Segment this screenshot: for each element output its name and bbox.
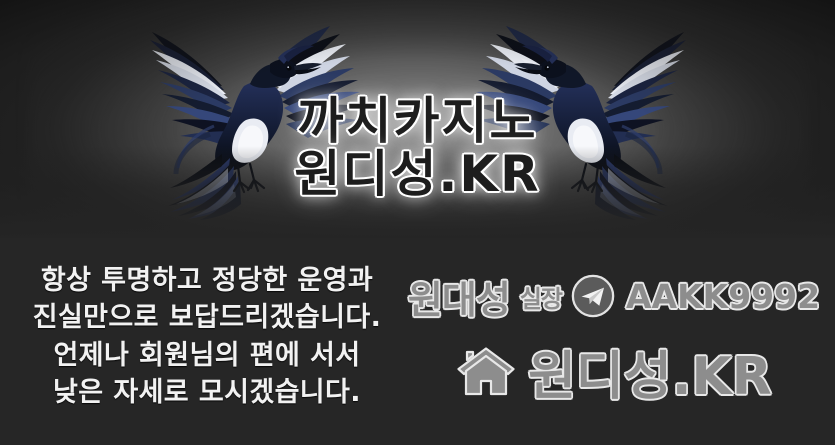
bottom-panel: 항상 투명하고 정당한 운영과 진실만으로 보답드리겠습니다. 언제나 회원님의… [0, 238, 835, 445]
brand-title-line-1: 까치카지노 [0, 96, 835, 147]
slogan-line-4: 낮은 자세로 모시겠습니다. [14, 374, 400, 411]
telegram-contact-row[interactable]: 원대성 실장 AAKK9992 [404, 266, 824, 326]
slogan-line-3: 언제나 회원님의 편에 서서 [14, 337, 400, 374]
website-row[interactable]: 원디성.KR [404, 330, 824, 412]
manager-title: 실장 [520, 279, 562, 314]
brand-title-line-2: 원디성.KR [0, 149, 835, 200]
home-icon[interactable] [456, 343, 516, 399]
contact-block: 원대성 실장 AAKK9992 [404, 266, 824, 412]
manager-name: 원대성 [408, 269, 510, 324]
telegram-id: AAKK9992 [626, 277, 820, 316]
slogan-line-1: 항상 투명하고 정당한 운영과 [14, 262, 400, 299]
promo-banner-image: 까치카지노 원디성.KR 항상 투명하고 정당한 운영과 진실만으로 보답드리겠… [0, 0, 835, 445]
telegram-icon[interactable] [570, 273, 616, 319]
slogan-block: 항상 투명하고 정당한 운영과 진실만으로 보답드리겠습니다. 언제나 회원님의… [14, 262, 400, 411]
banner-header: 까치카지노 원디성.KR [0, 0, 835, 238]
slogan-line-2: 진실만으로 보답드리겠습니다. [14, 299, 400, 336]
brand-title-block: 까치카지노 원디성.KR [0, 96, 835, 200]
site-domain: 원디성.KR [528, 334, 772, 409]
